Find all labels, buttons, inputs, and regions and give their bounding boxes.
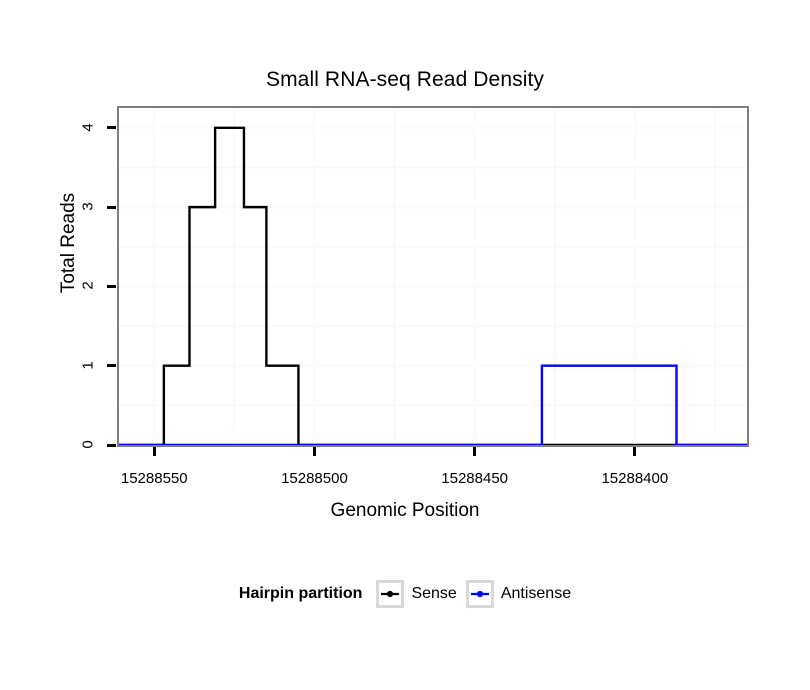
- y-tick-mark: [107, 285, 116, 288]
- x-tick-mark: [633, 447, 636, 456]
- y-tick-mark: [107, 444, 116, 447]
- line-point-icon: [380, 588, 400, 600]
- x-tick-mark: [473, 447, 476, 456]
- legend-label-antisense: Antisense: [501, 585, 571, 603]
- y-tick-mark: [107, 206, 116, 209]
- chart-legend: Hairpin partition Sense Antisense: [0, 580, 810, 608]
- chart-title: Small RNA-seq Read Density: [0, 68, 810, 92]
- x-tick-mark: [313, 447, 316, 456]
- legend-key-antisense: [466, 580, 494, 608]
- x-tick-label: 15288500: [249, 470, 379, 487]
- legend-key-sense: [376, 580, 404, 608]
- legend-entry-antisense[interactable]: Antisense: [466, 580, 571, 608]
- x-tick-label: 15288400: [570, 470, 700, 487]
- plot-panel: [117, 106, 749, 447]
- y-tick-mark: [107, 364, 116, 367]
- y-tick-label: 1: [80, 352, 97, 378]
- x-tick-mark: [153, 447, 156, 456]
- chart-figure: Small RNA-seq Read Density Total Reads 0…: [0, 0, 810, 690]
- x-tick-label: 15288550: [89, 470, 219, 487]
- legend-title: Hairpin partition: [239, 585, 363, 603]
- x-axis-title: Genomic Position: [0, 500, 810, 522]
- y-tick-mark: [107, 126, 116, 129]
- x-tick-label: 15288450: [410, 470, 540, 487]
- y-tick-label: 2: [80, 273, 97, 299]
- y-tick-label: 3: [80, 194, 97, 220]
- legend-label-sense: Sense: [411, 585, 456, 603]
- y-tick-label: 4: [80, 114, 97, 140]
- y-tick-label: 0: [80, 432, 97, 458]
- grid-lines: [119, 108, 747, 445]
- plot-series-svg: [119, 108, 747, 445]
- line-point-icon: [470, 588, 490, 600]
- y-axis-title: Total Reads: [58, 168, 80, 318]
- legend-entry-sense[interactable]: Sense: [376, 580, 456, 608]
